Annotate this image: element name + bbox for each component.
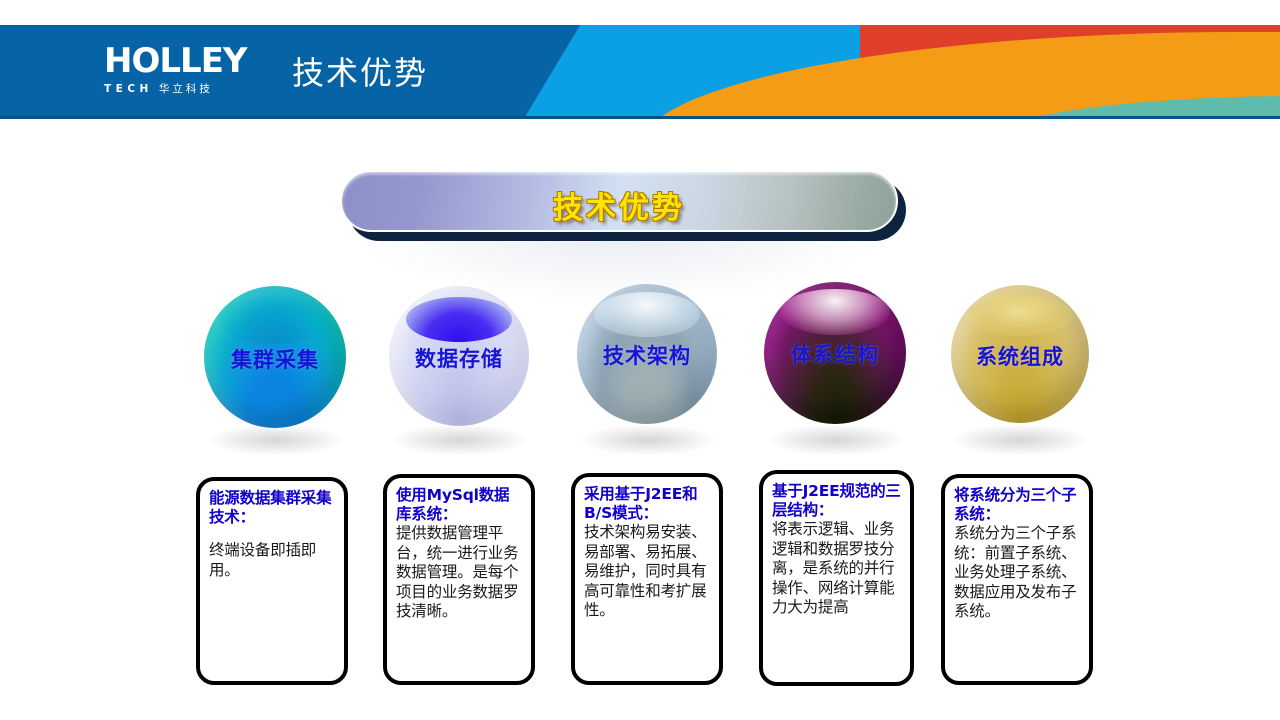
sphere-shadow-4 [766, 424, 906, 456]
logo-subline: TECH 华立科技 [104, 81, 272, 96]
info-box-4[interactable]: 基于J2EE规范的三层结构： 将表示逻辑、业务逻辑和数据罗技分离，是系统的并行操… [759, 470, 914, 686]
info-box-1-body: 终端设备即插即用。 [209, 541, 335, 580]
sphere-shadow-3 [578, 424, 718, 456]
sphere-highlight-2 [406, 297, 512, 342]
holley-logo: HOLLEY TECH 华立科技 [104, 44, 272, 96]
logo-chinese-text: 华立科技 [159, 81, 213, 96]
info-box-1[interactable]: 能源数据集群采集技术： 终端设备即插即用。 [196, 477, 348, 685]
sphere-system-structure[interactable]: 体系结构 [764, 282, 906, 424]
page-title: 技术优势 [292, 48, 428, 94]
sphere-shadow-2 [390, 424, 530, 456]
info-box-2[interactable]: 使用MySql数据库系统： 提供数据管理平台，统一进行业务数据管理。是每个项目的… [383, 474, 535, 685]
sphere-highlight-1 [220, 296, 331, 344]
info-box-1-heading: 能源数据集群采集技术： [209, 489, 335, 527]
info-box-5[interactable]: 将系统分为三个子系统： 系统分为三个子系统：前置子系统、业务处理子系统、数据应用… [941, 474, 1093, 685]
info-box-4-heading: 基于J2EE规范的三层结构： [772, 482, 901, 520]
title-banner: 技术优势 [340, 170, 898, 232]
header-band-red-solid [860, 25, 1280, 116]
sphere-label-5: 系统组成 [951, 341, 1089, 371]
info-box-3[interactable]: 采用基于J2EE和B/S模式： 技术架构易安装、易部署、易拓展、易维护，同时具有… [571, 473, 723, 685]
header-band-red [800, 25, 1280, 116]
sphere-system-composition[interactable]: 系统组成 [951, 285, 1089, 423]
sphere-cluster-collection[interactable]: 集群采集 [204, 286, 346, 428]
sphere-data-storage[interactable]: 数据存储 [389, 286, 529, 426]
sphere-tech-architecture[interactable]: 技术架构 [577, 284, 717, 424]
sphere-highlight-5 [968, 295, 1073, 336]
sphere-label-2: 数据存储 [389, 343, 529, 373]
header-band-orange [640, 32, 1280, 116]
info-box-2-heading: 使用MySql数据库系统： [396, 486, 522, 524]
sphere-highlight-4 [780, 289, 891, 334]
sphere-label-3: 技术架构 [577, 340, 717, 370]
sphere-label-4: 体系结构 [764, 339, 906, 369]
header-band-teal [970, 96, 1280, 116]
info-box-4-body: 将表示逻辑、业务逻辑和数据罗技分离，是系统的并行操作、网络计算能力大为提高 [772, 520, 901, 618]
sphere-label-1: 集群采集 [204, 344, 346, 374]
sphere-shadow-5 [950, 424, 1090, 456]
banner-title-text: 技术优势 [342, 183, 896, 227]
sphere-shadow-1 [206, 424, 346, 456]
info-box-5-body: 系统分为三个子系统：前置子系统、业务处理子系统、数据应用及发布子系统。 [954, 524, 1080, 622]
header-band-lightblue [460, 25, 1280, 116]
info-box-3-heading: 采用基于J2EE和B/S模式： [584, 485, 710, 523]
info-box-5-heading: 将系统分为三个子系统： [954, 486, 1080, 524]
header-bottom-edge [0, 116, 1280, 119]
slide-canvas: HOLLEY TECH 华立科技 技术优势 技术优势 集群采集 数据存储 技术架… [0, 0, 1280, 720]
info-box-2-body: 提供数据管理平台，统一进行业务数据管理。是每个项目的业务数据罗技清晰。 [396, 524, 522, 622]
logo-tech-text: TECH [104, 83, 153, 95]
banner-pill: 技术优势 [340, 170, 898, 232]
info-box-3-body: 技术架构易安装、易部署、易拓展、易维护，同时具有高可靠性和考扩展性。 [584, 523, 710, 621]
sphere-highlight-3 [594, 292, 700, 337]
logo-wordmark: HOLLEY [104, 44, 272, 78]
